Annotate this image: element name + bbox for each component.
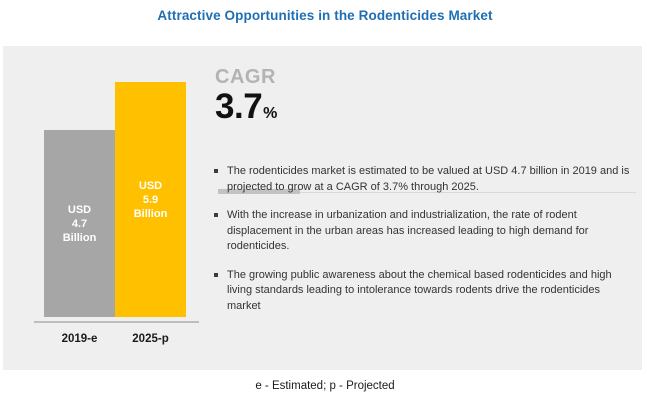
x-axis-line <box>34 321 199 323</box>
bullet-text: With the increase in urbanization and in… <box>227 209 588 252</box>
bar-group-2025: USD 5.9 Billion <box>115 82 186 317</box>
bar-2025-label-line3: Billion <box>115 207 186 221</box>
footer-legend-note: e - Estimated; p - Projected <box>0 380 650 392</box>
bar-2025-label-line1: USD <box>115 179 186 193</box>
list-item: With the increase in urbanization and in… <box>210 208 635 255</box>
list-item: The growing public awareness about the c… <box>210 268 635 315</box>
square-bullet-icon <box>214 273 218 277</box>
square-bullet-icon <box>214 213 218 217</box>
bar-chart: USD 4.7 Billion USD 5.9 Billion 2019-e 2… <box>21 46 201 370</box>
bar-2019-label-line2: 4.7 <box>44 217 115 231</box>
bullet-text: The growing public awareness about the c… <box>227 269 612 312</box>
bar-2025-value-label: USD 5.9 Billion <box>115 179 186 221</box>
bar-group-2019: USD 4.7 Billion <box>44 130 115 317</box>
bullet-list: The rodenticides market is estimated to … <box>210 164 635 327</box>
cagr-label: CAGR <box>215 66 276 89</box>
list-item: The rodenticides market is estimated to … <box>210 164 635 195</box>
x-axis-tick-2019-e: 2019-e <box>44 333 115 345</box>
cagr-percent-symbol: % <box>263 105 277 123</box>
bar-2019-e: USD 4.7 Billion <box>44 130 115 317</box>
x-axis-tick-2025-p: 2025-p <box>115 333 186 345</box>
insights-column: CAGR 3.7 % The rodenticides market is es… <box>210 46 635 370</box>
bar-2019-label-line1: USD <box>44 203 115 217</box>
cagr-value-row: 3.7 % <box>215 88 277 126</box>
infographic-panel: USD 4.7 Billion USD 5.9 Billion 2019-e 2… <box>3 46 642 370</box>
bar-2025-label-line2: 5.9 <box>115 193 186 207</box>
square-bullet-icon <box>214 169 218 173</box>
bar-2019-label-line3: Billion <box>44 231 115 245</box>
bullet-text: The rodenticides market is estimated to … <box>227 165 629 193</box>
bar-2019-value-label: USD 4.7 Billion <box>44 203 115 245</box>
page-title: Attractive Opportunities in the Rodentic… <box>0 8 650 23</box>
bar-2025-p: USD 5.9 Billion <box>115 82 186 317</box>
cagr-value: 3.7 <box>215 88 262 126</box>
